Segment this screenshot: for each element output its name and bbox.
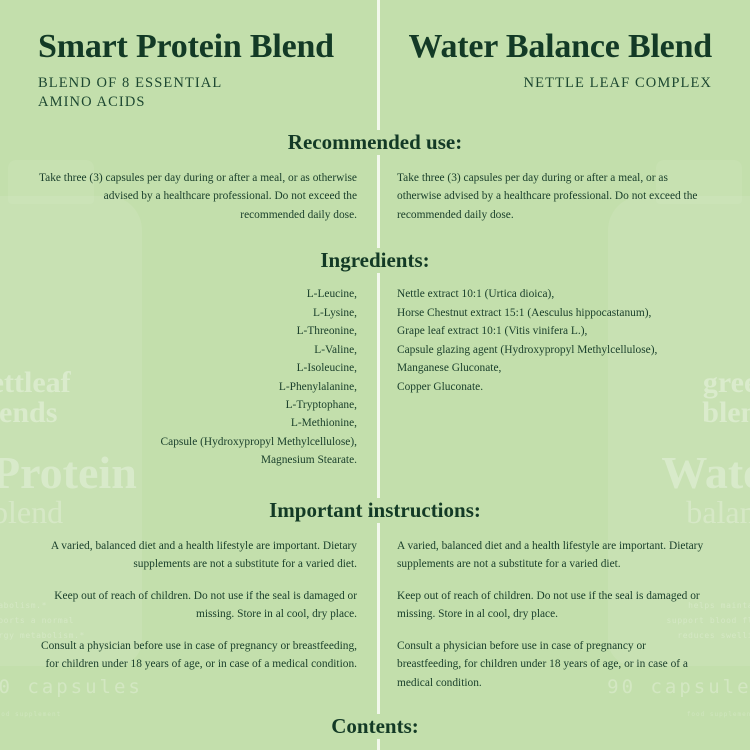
contents-right: 90 capsules: [377, 739, 750, 750]
ingredient-item: L-Leucine,: [38, 285, 357, 303]
section-heading-important-instructions: Important instructions:: [0, 498, 750, 523]
ingredient-item: L-Valine,: [38, 341, 357, 359]
section-heading-contents: Contents:: [0, 714, 750, 739]
instruction-paragraph: Consult a physician before use in case o…: [38, 637, 357, 674]
ingredient-item: L-Threonine,: [38, 322, 357, 340]
contents-left: 90 capsules: [0, 739, 377, 750]
ingredients-right: Nettle extract 10:1 (Urtica dioica),Hors…: [377, 273, 750, 470]
instruction-paragraph: A varied, balanced diet and a health lif…: [397, 537, 712, 574]
recommended-use-text-left: Take three (3) capsules per day during o…: [38, 169, 357, 224]
product-title-left: Smart Protein Blend: [38, 28, 357, 66]
label-content-grid: Smart Protein Blend BLEND OF 8 ESSENTIAL…: [0, 0, 750, 750]
ingredient-item: L-Lysine,: [38, 304, 357, 322]
ingredient-item: Capsule (Hydroxypropyl Methylcellulose),: [38, 433, 357, 451]
supplement-label-sheet: nettleaf blends Protein blend metabolism…: [0, 0, 750, 750]
ingredient-list-left: L-Leucine,L-Lysine,L-Threonine,L-Valine,…: [38, 285, 357, 470]
ingredient-item: Nettle extract 10:1 (Urtica dioica),: [397, 285, 712, 303]
recommended-use-left: Take three (3) capsules per day during o…: [0, 155, 377, 224]
product-subtitle-right: NETTLE LEAF COMPLEX: [397, 74, 712, 93]
section-heading-ingredients: Ingredients:: [0, 248, 750, 273]
section-heading-recommended-use: Recommended use:: [0, 130, 750, 155]
ingredient-item: L-Methionine,: [38, 414, 357, 432]
ingredients-left: L-Leucine,L-Lysine,L-Threonine,L-Valine,…: [0, 273, 377, 470]
ingredient-item: Grape leaf extract 10:1 (Vitis vinifera …: [397, 322, 712, 340]
instruction-paragraph: Keep out of reach of children. Do not us…: [397, 587, 712, 624]
product-subtitle-left: BLEND OF 8 ESSENTIAL AMINO ACIDS: [38, 74, 268, 112]
product-header-right: Water Balance Blend NETTLE LEAF COMPLEX: [377, 0, 750, 112]
recommended-use-text-right: Take three (3) capsules per day during o…: [397, 169, 712, 224]
ingredient-item: Copper Gluconate.: [397, 378, 712, 396]
ingredient-item: Magnesium Stearate.: [38, 451, 357, 469]
ingredient-item: L-Tryptophane,: [38, 396, 357, 414]
instructions-left: A varied, balanced diet and a health lif…: [0, 523, 377, 692]
product-header-left: Smart Protein Blend BLEND OF 8 ESSENTIAL…: [0, 0, 377, 112]
instructions-right: A varied, balanced diet and a health lif…: [377, 523, 750, 692]
ingredient-item: L-Isoleucine,: [38, 359, 357, 377]
ingredient-item: L-Phenylalanine,: [38, 378, 357, 396]
ingredient-item: Capsule glazing agent (Hydroxypropyl Met…: [397, 341, 712, 359]
instruction-paragraph: Keep out of reach of children. Do not us…: [38, 587, 357, 624]
instruction-paragraph: A varied, balanced diet and a health lif…: [38, 537, 357, 574]
instruction-paragraph: Consult a physician before use in case o…: [397, 637, 712, 692]
ingredient-list-right: Nettle extract 10:1 (Urtica dioica),Hors…: [397, 285, 712, 396]
recommended-use-right: Take three (3) capsules per day during o…: [377, 155, 750, 224]
ingredient-item: Horse Chestnut extract 15:1 (Aesculus hi…: [397, 304, 712, 322]
product-title-right: Water Balance Blend: [397, 28, 712, 66]
ingredient-item: Manganese Gluconate,: [397, 359, 712, 377]
